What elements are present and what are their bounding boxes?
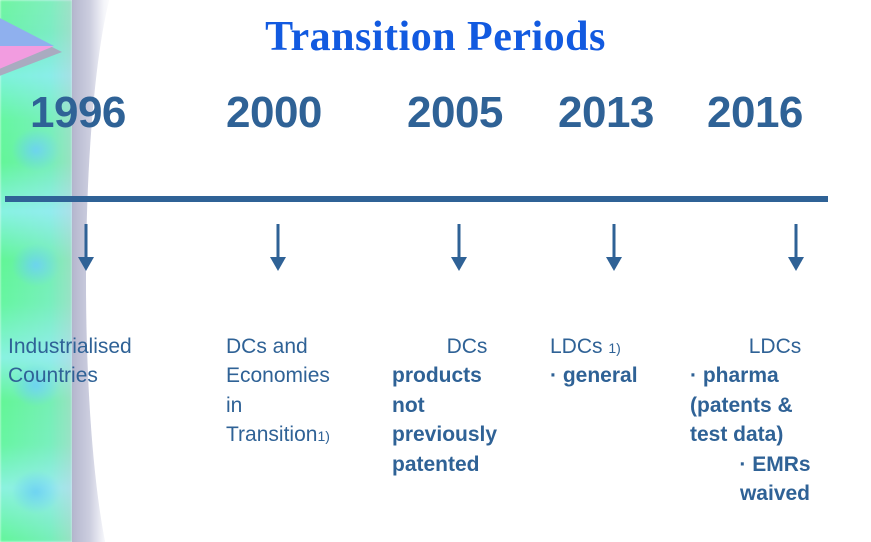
column-1996: Industrialised Countries bbox=[8, 332, 208, 391]
year-label-2016: 2016 bbox=[707, 88, 803, 138]
col-2005-line-1: products bbox=[392, 361, 542, 390]
year-label-2013: 2013 bbox=[558, 88, 654, 138]
timeline-axis-line bbox=[5, 196, 828, 202]
col-2005-line-3: previously bbox=[392, 420, 542, 449]
column-2000: DCs and Economies in Transition1) bbox=[226, 332, 396, 450]
col-2000-line-3: in bbox=[226, 391, 396, 420]
arrow-2005-icon bbox=[447, 224, 471, 272]
col-2000-line-4-text: Transition bbox=[226, 423, 317, 446]
year-label-2000: 2000 bbox=[226, 88, 322, 138]
col-2016-heading: LDCs bbox=[690, 332, 860, 361]
shadow-curve-mask bbox=[86, 0, 176, 542]
col-2000-line-2: Economies bbox=[226, 361, 396, 390]
col-2013-footnote-marker: 1) bbox=[608, 340, 620, 356]
col-2016-line-4: · EMRs bbox=[690, 450, 860, 479]
slide-canvas: Transition Periods 1996 2000 2005 2013 2… bbox=[0, 0, 871, 542]
arrow-1996-icon bbox=[74, 224, 98, 272]
col-2005-line-4: patented bbox=[392, 450, 542, 479]
col-1996-line-1: Industrialised bbox=[8, 332, 208, 361]
column-2013: LDCs 1) · general bbox=[550, 332, 700, 391]
col-2000-line-4: Transition1) bbox=[226, 420, 396, 449]
col-2005-line-2: not bbox=[392, 391, 542, 420]
col-2016-line-2: (patents & bbox=[690, 391, 860, 420]
arrow-2013-icon bbox=[602, 224, 626, 272]
col-2013-line-1: · general bbox=[550, 361, 700, 390]
arrow-2016-icon bbox=[784, 224, 808, 272]
col-2016-line-3: test data) bbox=[690, 420, 860, 449]
col-1996-line-2: Countries bbox=[8, 361, 208, 390]
year-label-2005: 2005 bbox=[407, 88, 503, 138]
column-2016: LDCs · pharma (patents & test data) · EM… bbox=[690, 332, 860, 508]
col-2000-footnote-marker: 1) bbox=[317, 428, 329, 444]
year-label-1996: 1996 bbox=[30, 88, 126, 138]
col-2016-line-1: · pharma bbox=[690, 361, 860, 390]
col-2005-heading: DCs bbox=[392, 332, 542, 361]
column-2005: DCs products not previously patented bbox=[392, 332, 542, 479]
arrow-2000-icon bbox=[266, 224, 290, 272]
col-2000-line-1: DCs and bbox=[226, 332, 396, 361]
col-2016-line-5: waived bbox=[690, 479, 860, 508]
col-2013-heading-text: LDCs bbox=[550, 335, 603, 358]
page-title: Transition Periods bbox=[0, 13, 871, 61]
col-2013-heading: LDCs 1) bbox=[550, 332, 700, 361]
